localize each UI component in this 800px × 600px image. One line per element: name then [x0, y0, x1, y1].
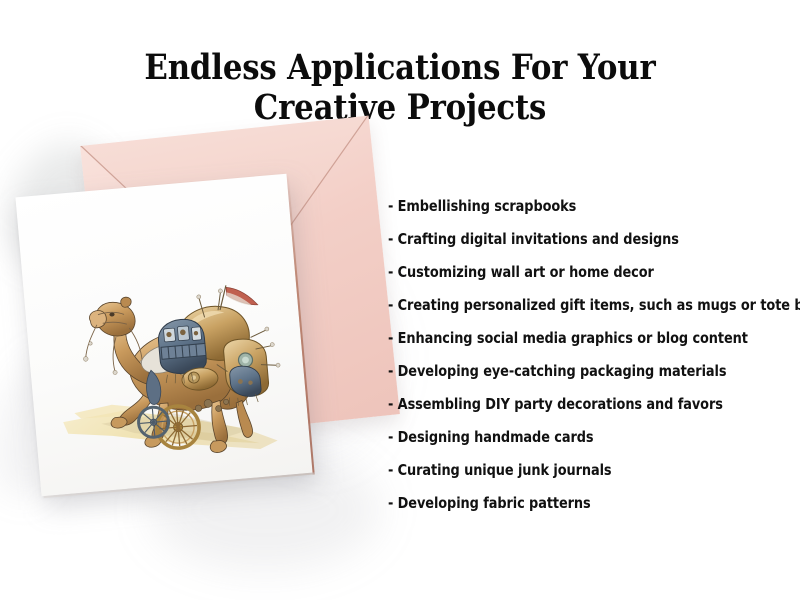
applications-list: - Embellishing scrapbooks - Crafting dig…	[388, 190, 788, 520]
greeting-card-mockup	[0, 120, 400, 580]
list-item: - Customizing wall art or home decor	[388, 256, 732, 289]
page-title-line-1: Endless Applications For Your	[48, 48, 752, 88]
pennant-flag	[218, 283, 258, 310]
greeting-card	[15, 174, 312, 497]
list-item: - Assembling DIY party decorations and f…	[388, 388, 732, 421]
list-item: - Enhancing social media graphics or blo…	[388, 322, 732, 355]
camel-illustration	[50, 275, 293, 479]
list-item: - Designing handmade cards	[388, 421, 732, 454]
list-item: - Developing eye-catching packaging mate…	[388, 355, 732, 388]
list-item: - Developing fabric patterns	[388, 487, 732, 520]
slide-canvas: Endless Applications For Your Creative P…	[0, 0, 800, 600]
list-item: - Embellishing scrapbooks	[388, 190, 732, 223]
camel-artwork	[50, 275, 293, 479]
page-title: Endless Applications For Your Creative P…	[48, 48, 752, 128]
card-face	[15, 174, 312, 497]
list-item: - Creating personalized gift items, such…	[388, 289, 732, 322]
list-item: - Curating unique junk journals	[388, 454, 732, 487]
list-item: - Crafting digital invitations and desig…	[388, 223, 732, 256]
